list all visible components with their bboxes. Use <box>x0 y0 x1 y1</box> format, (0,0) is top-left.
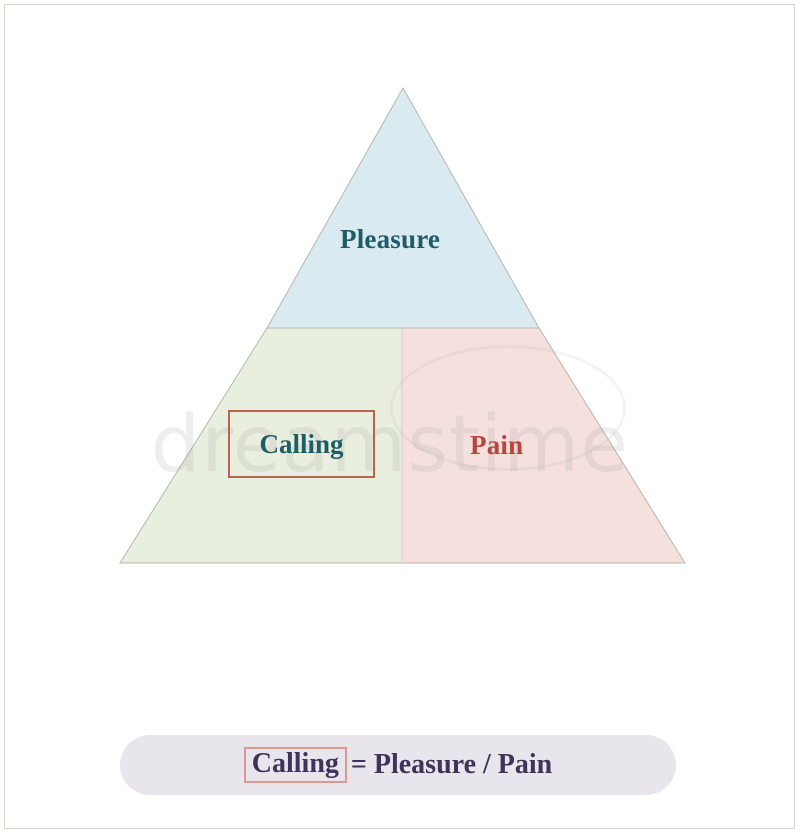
calling-highlight-box[interactable]: Calling <box>228 410 375 478</box>
formula-calling-label: Calling <box>252 748 339 779</box>
formula-remainder: = Pleasure / Pain <box>351 749 552 781</box>
formula-bar: Calling = Pleasure / Pain <box>120 735 676 795</box>
pyramid-label-calling: Calling <box>259 429 343 460</box>
formula-calling-box[interactable]: Calling <box>244 747 347 783</box>
pyramid-label-pain: Pain <box>470 430 523 461</box>
pyramid-diagram: dreamstime Pleasure Calling Pain <box>0 0 800 620</box>
diagram-canvas: dreamstime Pleasure Calling Pain Calling… <box>0 0 800 834</box>
pyramid-segment-pleasure[interactable] <box>267 88 539 328</box>
formula-expression: Calling = Pleasure / Pain <box>244 747 552 783</box>
pyramid-segment-pain[interactable] <box>402 328 685 563</box>
pyramid-label-pleasure: Pleasure <box>340 224 440 255</box>
pyramid-svg <box>0 0 800 620</box>
